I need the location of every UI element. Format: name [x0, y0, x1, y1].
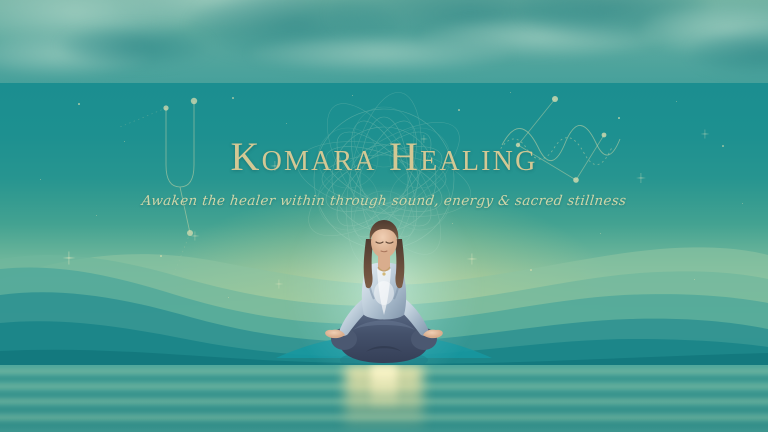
sun-reflection-core	[371, 365, 397, 411]
brand-tagline-wrap: Awaken the healer within through sound, …	[0, 195, 768, 209]
meditating-figure	[322, 211, 446, 365]
hero-banner: Komara Healing Awaken the healer within …	[0, 0, 768, 432]
page-title: Komara Healing	[0, 137, 768, 177]
brand-title-wrap: Komara Healing	[0, 137, 768, 177]
water-strip	[0, 365, 768, 432]
sky-teal-overlay	[0, 0, 768, 83]
hero-scene: Komara Healing Awaken the healer within …	[0, 83, 768, 365]
sky-strip	[0, 0, 768, 83]
tagline: Awaken the healer within through sound, …	[0, 195, 768, 209]
